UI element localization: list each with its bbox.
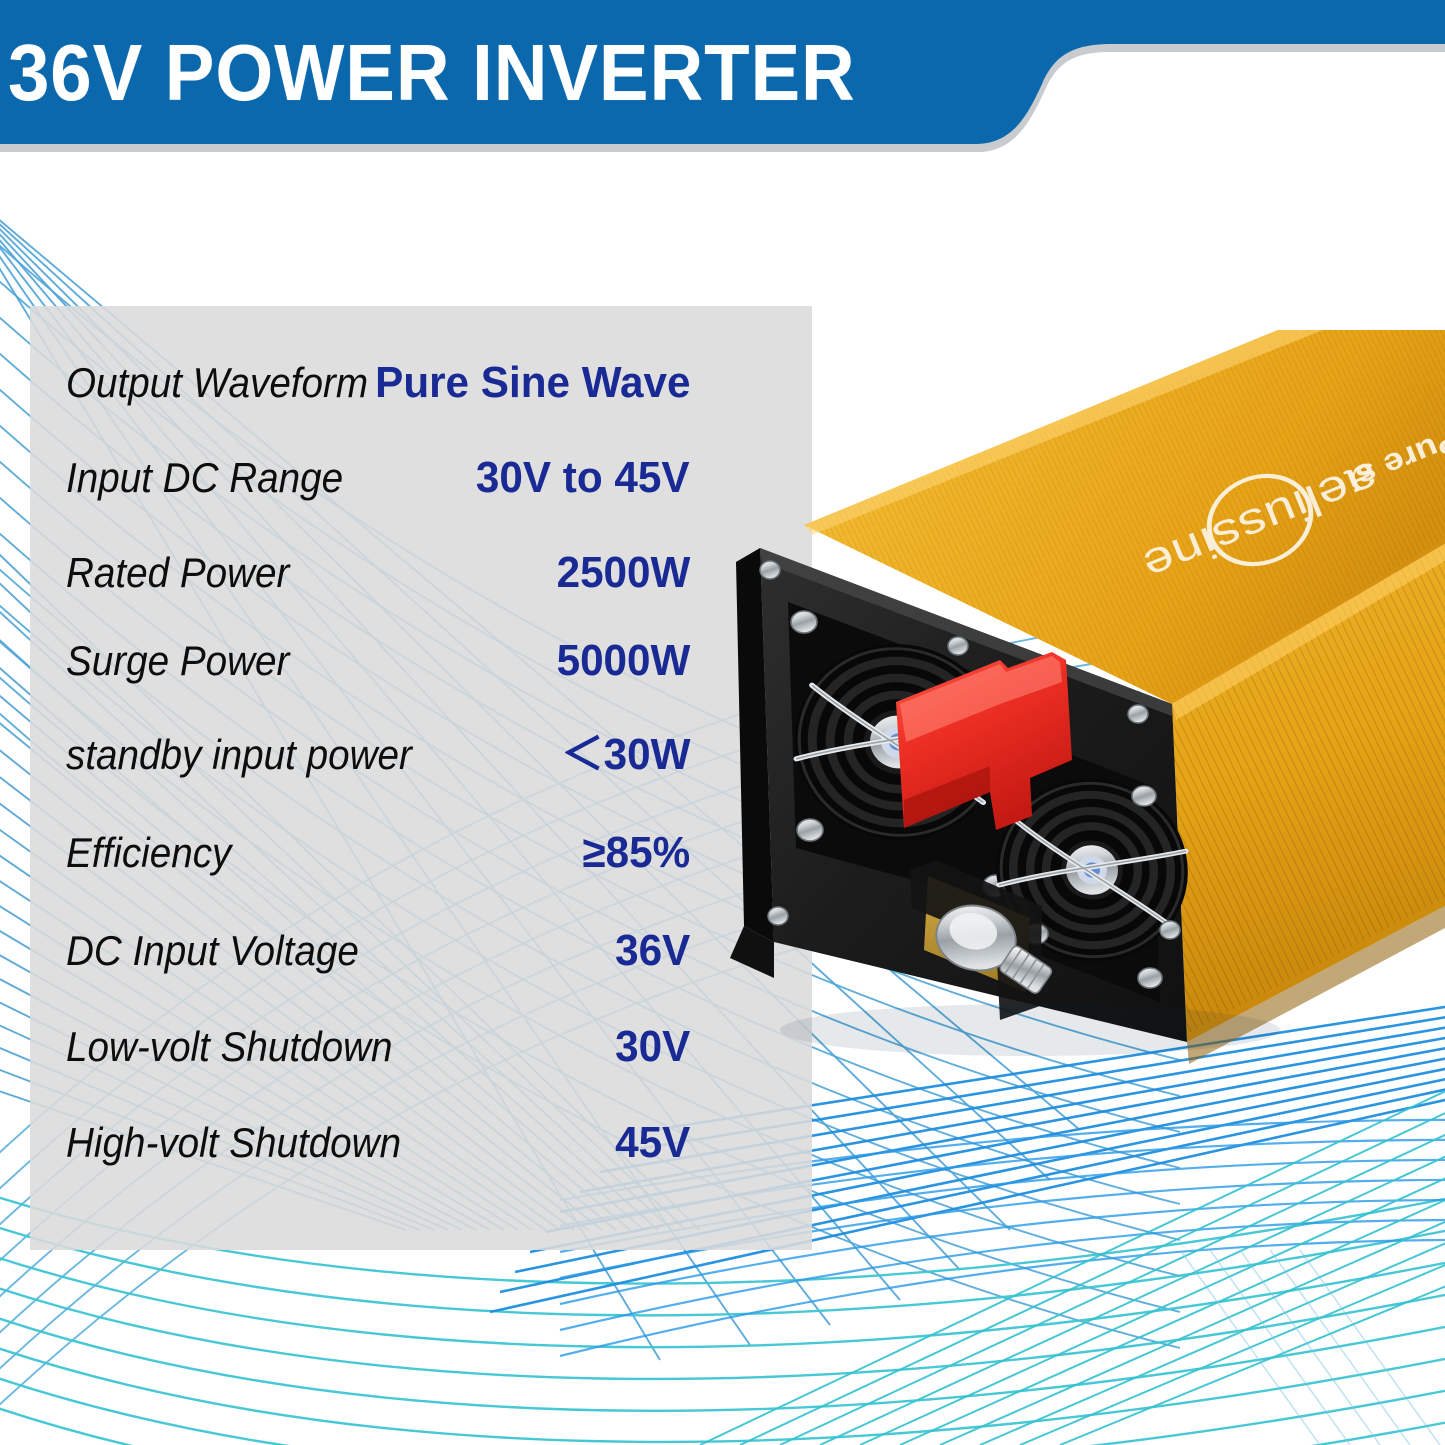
table-row: Surge Power 5000W [30,632,812,690]
spec-value: ＜30W [561,731,690,779]
spec-value: 5000W [556,637,690,685]
table-row: High-volt Shutdown 45V [30,1114,812,1172]
spec-table: Output Waveform Pure Sine Wave Input DC … [30,306,812,1250]
infographic-canvas: 36V POWER INVERTER Output Waveform Pure … [0,0,1445,1445]
spec-value: 30V to 45V [476,454,690,502]
table-row: Low-volt Shutdown 30V [30,1018,812,1076]
spec-label: Input DC Range [66,454,343,502]
spec-value: ≥85% [582,829,690,877]
table-row: DC Input Voltage 36V [30,922,812,980]
spec-label: High-volt Shutdown [66,1119,401,1167]
page-title: 36V POWER INVERTER [8,33,856,113]
table-row: standby input power ＜30W [30,726,812,784]
spec-value: 36V [615,927,690,975]
spec-label: Low-volt Shutdown [66,1023,392,1071]
spec-value: 45V [615,1119,690,1167]
spec-value: Pure Sine Wave [375,359,690,407]
spec-label: Rated Power [66,549,289,597]
spec-label: standby input power [66,731,412,779]
table-row: Output Waveform Pure Sine Wave [30,354,812,412]
spec-value: 2500W [556,549,690,597]
spec-label: Surge Power [66,637,289,685]
spec-label: Output Waveform [66,359,368,407]
spec-label: Efficiency [66,829,231,877]
product-image: aeliussine Pure si [700,330,1445,1200]
spec-label: DC Input Voltage [66,927,359,975]
table-row: Input DC Range 30V to 45V [30,449,812,507]
table-row: Efficiency ≥85% [30,824,812,882]
product-shadow [780,1004,1280,1056]
spec-value: 30V [615,1023,690,1071]
table-row: Rated Power 2500W [30,544,812,602]
